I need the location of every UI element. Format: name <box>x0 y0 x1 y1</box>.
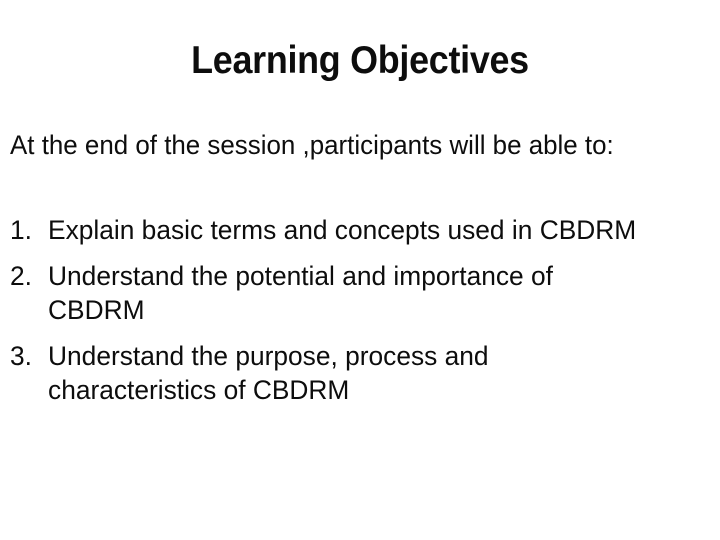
list-item-label: Explain basic terms and concepts used in… <box>48 213 682 247</box>
list-item-label: Understand the potential and importance … <box>48 259 594 327</box>
slide-body: At the end of the session ,participants … <box>10 128 710 407</box>
page-title: Learning Objectives <box>29 38 691 84</box>
list-item-number: 1. <box>10 213 39 247</box>
list-item: 1. Explain basic terms and concepts used… <box>10 213 693 247</box>
list-item: 2. Understand the potential and importan… <box>10 259 693 327</box>
presentation-slide: Learning Objectives At the end of the se… <box>0 0 720 540</box>
list-item-label: Understand the purpose, process and char… <box>48 339 594 407</box>
list-item: 3. Understand the purpose, process and c… <box>10 339 693 407</box>
list-item-number: 2. <box>10 259 39 293</box>
list-item-number: 3. <box>10 339 39 373</box>
objectives-list: 1. Explain basic terms and concepts used… <box>10 213 710 407</box>
lead-in-text: At the end of the session ,participants … <box>10 128 682 162</box>
